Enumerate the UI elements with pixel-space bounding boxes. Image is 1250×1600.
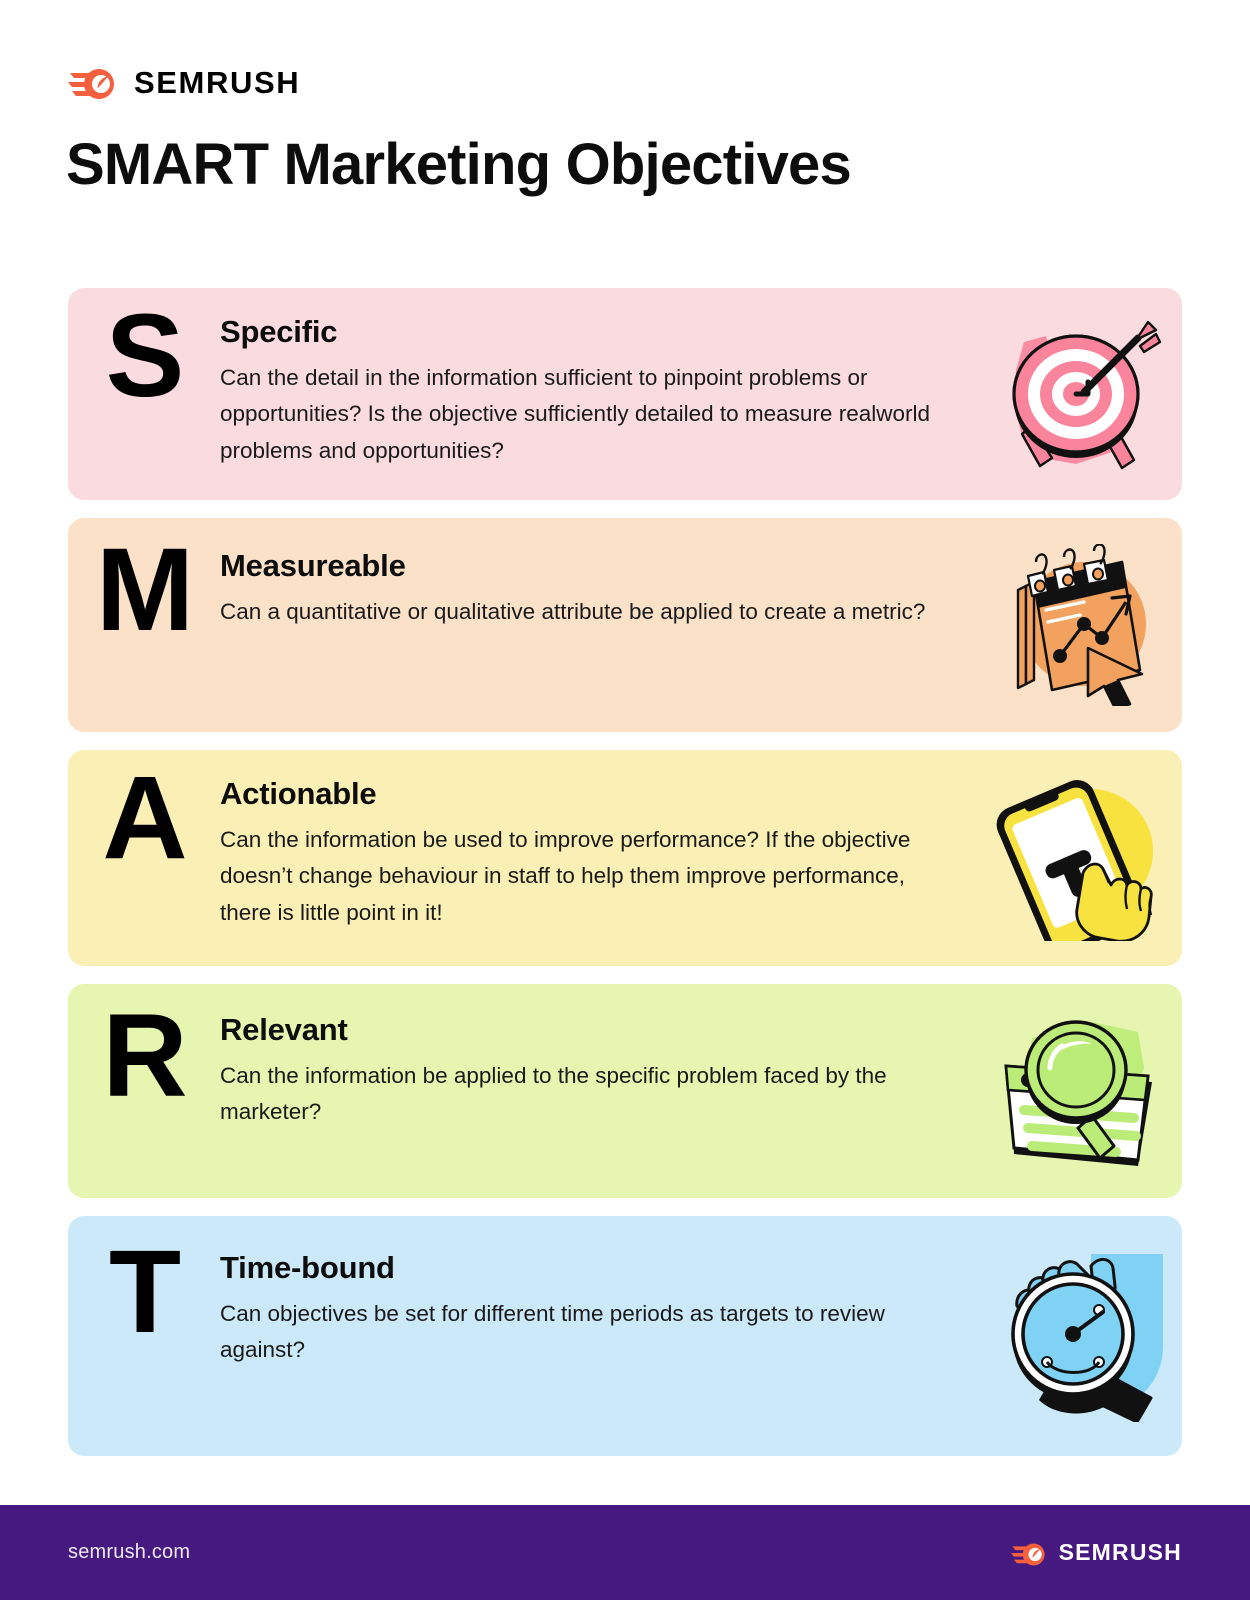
cards-list: S Specific Can the detail in the informa… <box>68 288 1182 1474</box>
brand-logo: SEMRUSH <box>68 60 300 104</box>
card-heading-measureable: Measureable <box>220 548 954 584</box>
card-measureable: M Measureable Can a quantitative or qual… <box>68 518 1182 732</box>
infographic-page: SEMRUSH SMART Marketing Objectives S Spe… <box>0 0 1250 1600</box>
page-title: SMART Marketing Objectives <box>66 133 851 198</box>
card-letter-a: A <box>68 750 220 873</box>
dartboard-target-icon <box>988 308 1166 480</box>
stopwatch-hand-icon <box>987 1250 1167 1422</box>
card-art-specific <box>972 288 1182 500</box>
card-time-bound: T Time-bound Can objectives be set for d… <box>68 1216 1182 1456</box>
calendar-chart-icon <box>992 544 1162 706</box>
card-actionable: A Actionable Can the information be used… <box>68 750 1182 966</box>
card-art-actionable <box>972 750 1182 966</box>
card-description-actionable: Can the information be used to improve p… <box>220 822 930 931</box>
card-art-relevant <box>972 984 1182 1198</box>
card-text-relevant: Relevant Can the information be applied … <box>220 984 972 1131</box>
card-text-actionable: Actionable Can the information be used t… <box>220 750 972 931</box>
card-description-measureable: Can a quantitative or qualitative attrib… <box>220 594 930 630</box>
card-text-time-bound: Time-bound Can objectives be set for dif… <box>220 1216 972 1369</box>
footer-url[interactable]: semrush.com <box>68 1541 190 1564</box>
brand-wordmark: SEMRUSH <box>134 67 300 98</box>
phone-tap-icon <box>991 775 1163 941</box>
card-heading-relevant: Relevant <box>220 1012 954 1048</box>
card-art-time-bound <box>972 1216 1182 1456</box>
magnifier-browser-icon <box>988 1010 1166 1172</box>
card-heading-time-bound: Time-bound <box>220 1250 954 1286</box>
semrush-comet-icon <box>68 63 120 101</box>
footer-brand-wordmark: SEMRUSH <box>1059 1541 1182 1564</box>
card-text-measureable: Measureable Can a quantitative or qualit… <box>220 518 972 630</box>
card-description-relevant: Can the information be applied to the sp… <box>220 1058 930 1131</box>
footer-brand-logo: SEMRUSH <box>1011 1539 1182 1567</box>
card-letter-s: S <box>68 288 220 411</box>
card-specific: S Specific Can the detail in the informa… <box>68 288 1182 500</box>
card-description-time-bound: Can objectives be set for different time… <box>220 1296 930 1369</box>
card-letter-t: T <box>68 1216 220 1347</box>
card-text-specific: Specific Can the detail in the informati… <box>220 288 972 469</box>
card-heading-actionable: Actionable <box>220 776 954 812</box>
card-letter-r: R <box>68 984 220 1111</box>
card-description-specific: Can the detail in the information suffic… <box>220 360 930 469</box>
card-art-measureable <box>972 518 1182 732</box>
semrush-comet-icon <box>1011 1539 1049 1567</box>
card-relevant: R Relevant Can the information be applie… <box>68 984 1182 1198</box>
footer-bar: semrush.com SEMRUSH <box>0 1505 1250 1600</box>
card-letter-m: M <box>68 518 220 645</box>
card-heading-specific: Specific <box>220 314 954 350</box>
